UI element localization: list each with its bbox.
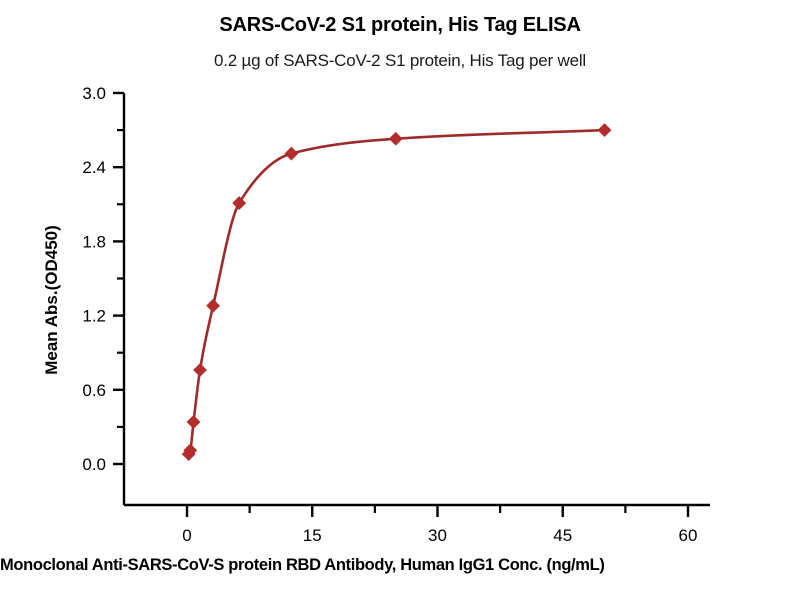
x-axis-tick-labels: 015304560 (182, 526, 697, 545)
svg-text:3.0: 3.0 (82, 84, 106, 103)
data-point-marker (285, 147, 297, 159)
data-point-marker (233, 197, 245, 209)
svg-text:0.6: 0.6 (82, 381, 106, 400)
data-point-marker (598, 124, 610, 136)
plot-area: 0.00.61.21.82.43.0 015304560 (0, 0, 800, 600)
svg-text:1.2: 1.2 (82, 307, 106, 326)
data-series-curve (189, 130, 605, 454)
svg-text:30: 30 (428, 526, 447, 545)
data-series-markers (182, 124, 610, 460)
svg-text:15: 15 (303, 526, 322, 545)
data-point-marker (390, 133, 402, 145)
x-axis-major-ticks (187, 505, 688, 517)
svg-text:0: 0 (182, 526, 191, 545)
svg-text:60: 60 (679, 526, 698, 545)
data-point-marker (194, 364, 206, 376)
svg-text:45: 45 (553, 526, 572, 545)
data-point-marker (187, 416, 199, 428)
svg-text:0.0: 0.0 (82, 455, 106, 474)
y-axis-tick-labels: 0.00.61.21.82.43.0 (82, 84, 106, 474)
chart-figure: SARS-CoV-2 S1 protein, His Tag ELISA 0.2… (0, 0, 800, 600)
svg-text:1.8: 1.8 (82, 232, 106, 251)
data-point-marker (207, 300, 219, 312)
svg-text:2.4: 2.4 (82, 158, 106, 177)
